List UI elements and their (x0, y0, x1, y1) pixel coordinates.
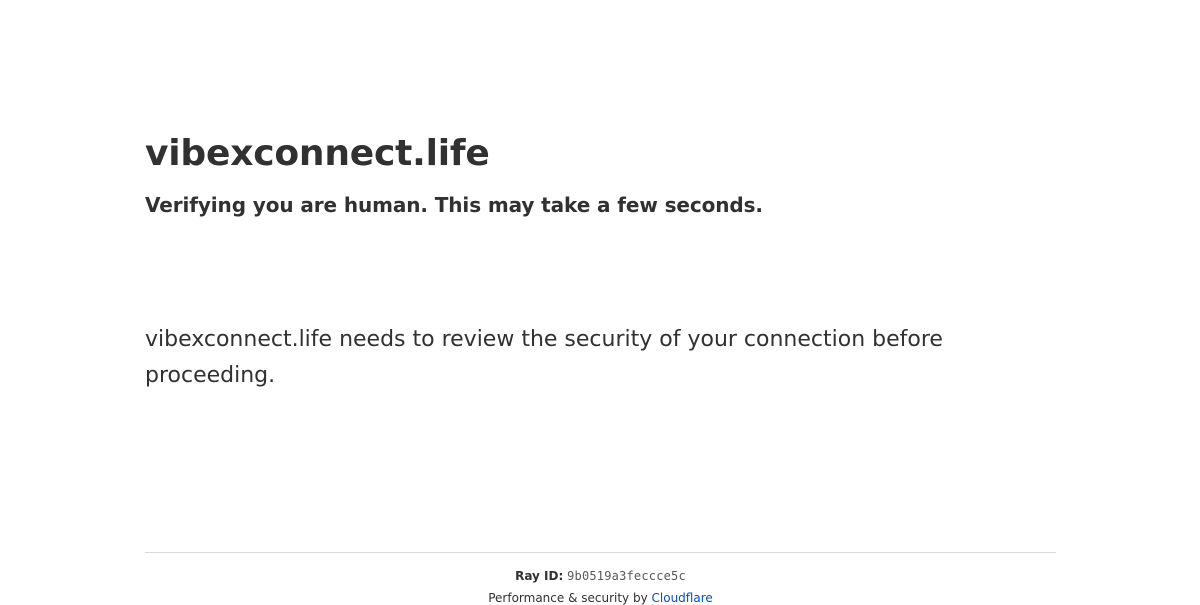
cloudflare-link[interactable]: Cloudflare (652, 591, 713, 605)
page-title: vibexconnect.life (145, 132, 490, 176)
attribution-prefix: Performance & security by (488, 591, 651, 605)
challenge-page: vibexconnect.life Verifying you are huma… (0, 0, 1200, 600)
verification-status-text: Verifying you are human. This may take a… (145, 191, 763, 219)
ray-id-label: Ray ID: (515, 569, 563, 583)
turnstile-challenge-widget[interactable] (145, 238, 445, 303)
challenge-description: vibexconnect.life needs to review the se… (145, 322, 945, 394)
footer: Ray ID: 9b0519a3feccce5c Performance & s… (145, 553, 1056, 605)
ray-id-line: Ray ID: 9b0519a3feccce5c (145, 553, 1056, 583)
ray-id-value: 9b0519a3feccce5c (567, 569, 686, 583)
attribution-line: Performance & security by Cloudflare (145, 583, 1056, 605)
